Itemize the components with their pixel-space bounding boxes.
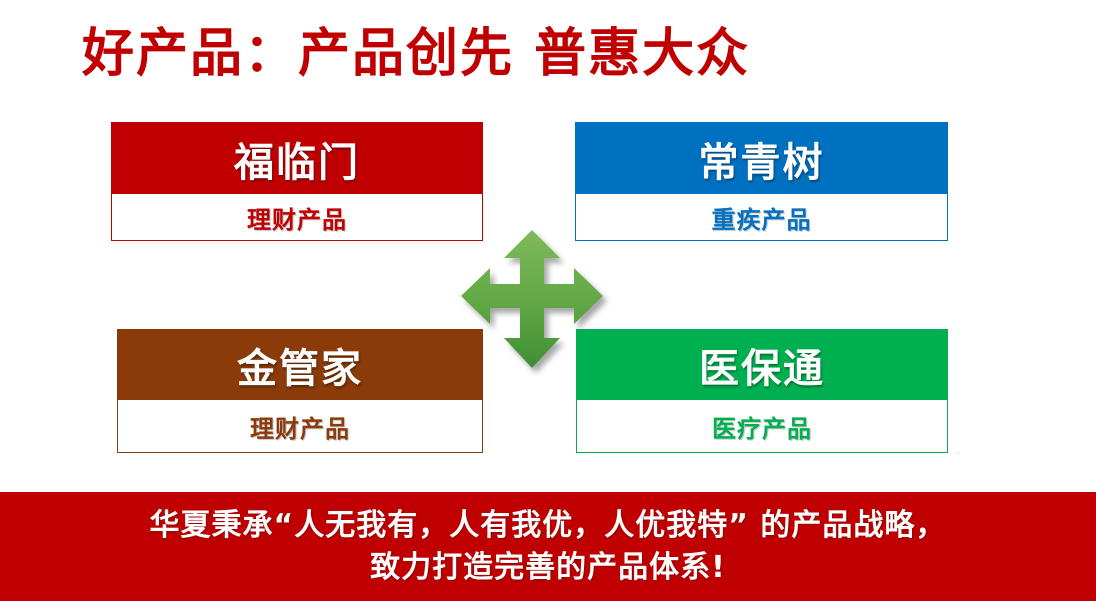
bottom-banner: 华夏秉承“人无我有，人有我优，人优我特” 的产品战略， 致力打造完善的产品体系! <box>0 492 1096 601</box>
bottom-banner-line-1: 华夏秉承“人无我有，人有我优，人优我特” 的产品战略， <box>150 506 947 546</box>
product-card-changqingshu-title: 常青树 <box>576 123 947 194</box>
four-way-arrow-icon <box>458 228 618 378</box>
product-card-fulinmen-category: 理财产品 <box>112 194 482 240</box>
product-card-fulinmen-title: 福临门 <box>112 123 482 194</box>
product-card-changqingshu[interactable]: 常青树 重疾产品 <box>575 122 948 241</box>
product-card-yibaotong-title: 医保通 <box>577 330 947 400</box>
product-card-jinguanjia-title: 金管家 <box>118 330 482 400</box>
product-card-changqingshu-category: 重疾产品 <box>576 194 947 240</box>
product-card-fulinmen[interactable]: 福临门 理财产品 <box>111 122 483 241</box>
slide-canvas: 好产品：产品创先 普惠大众 福临门 理财产品 常青树 重疾产品 金管家 理财产品… <box>0 0 1096 601</box>
bottom-banner-line-2: 致力打造完善的产品体系! <box>370 548 726 588</box>
page-title: 好产品：产品创先 普惠大众 <box>82 18 982 90</box>
product-card-jinguanjia[interactable]: 金管家 理财产品 <box>117 329 483 453</box>
product-card-yibaotong-category: 医疗产品 <box>577 400 947 452</box>
product-card-jinguanjia-category: 理财产品 <box>118 400 482 452</box>
product-card-yibaotong[interactable]: 医保通 医疗产品 <box>576 329 948 453</box>
